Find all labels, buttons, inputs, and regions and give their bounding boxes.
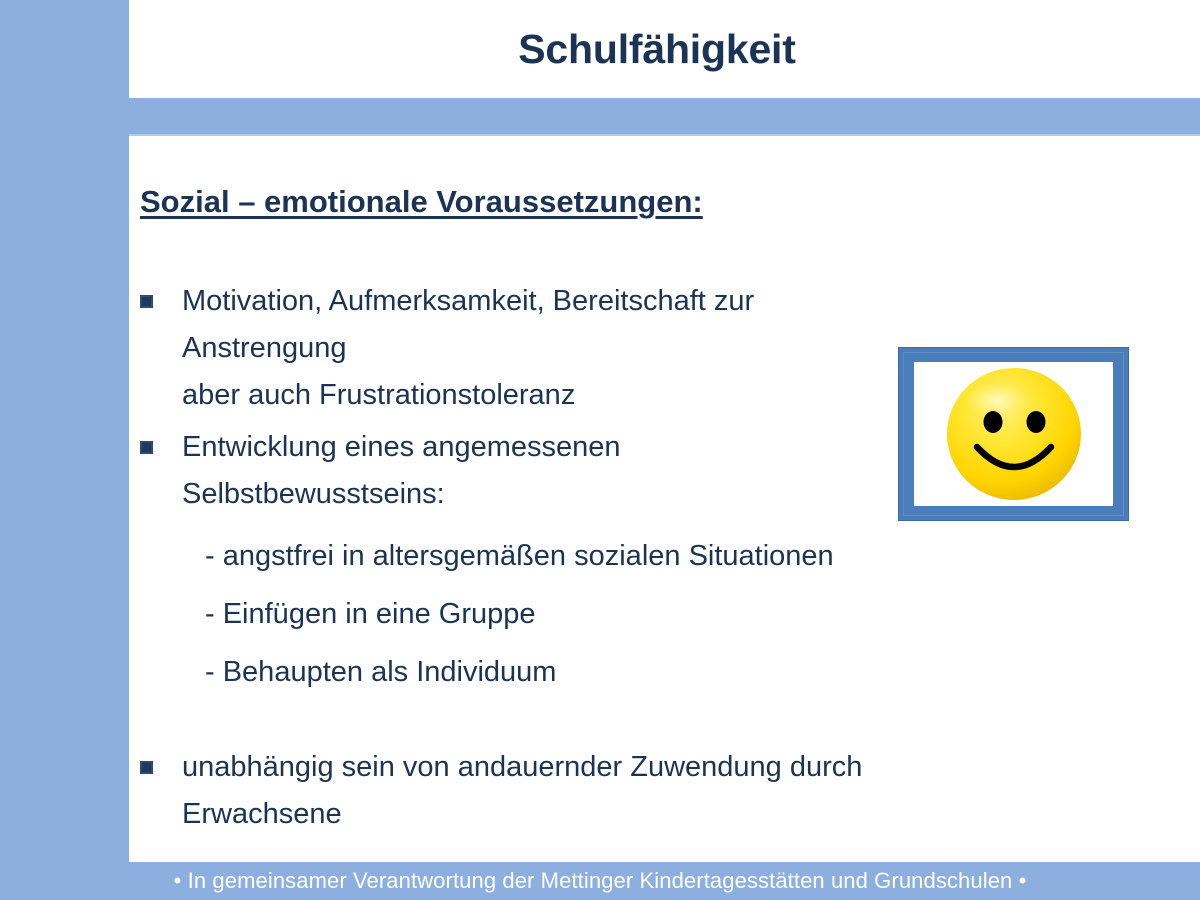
section-heading: Sozial – emotionale Voraussetzungen: [140,184,703,220]
sub-list-item: - angstfrei in altersgemäßen sozialen Si… [205,536,834,576]
smiley-picture-frame [899,348,1128,520]
sub-list-item: - Behaupten als Individuum [205,652,556,692]
footer-band: • In gemeinsamer Verantwortung der Metti… [0,862,1200,900]
page-title: Schulfähigkeit [129,0,1185,98]
title-panel: Schulfähigkeit [129,0,1200,98]
list-item: Motivation, Aufmerksamkeit, Bereitschaft… [140,278,840,419]
title-divider-band [129,98,1200,136]
square-bullet-icon [140,761,153,774]
slide-canvas: Schulfähigkeit Sozial – emotionale Vorau… [0,0,1200,900]
footer-text: • In gemeinsamer Verantwortung der Metti… [174,868,1027,894]
list-item-label: Motivation, Aufmerksamkeit, Bereitschaft… [182,278,840,419]
smiley-mat [914,362,1113,506]
list-item: unabhängig sein von andauernder Zuwendun… [140,744,1090,838]
smiley-face-icon [939,364,1089,504]
list-item: Entwicklung eines angemessenen Selbstbew… [140,424,780,518]
sub-list-item: - Einfügen in eine Gruppe [205,594,536,634]
list-item-label: Entwicklung eines angemessenen Selbstbew… [182,424,621,518]
square-bullet-icon [140,295,153,308]
list-item-label: unabhängig sein von andauernder Zuwendun… [182,744,862,838]
square-bullet-icon [140,441,153,454]
content-panel: Sozial – emotionale Voraussetzungen: Mot… [129,136,1200,862]
